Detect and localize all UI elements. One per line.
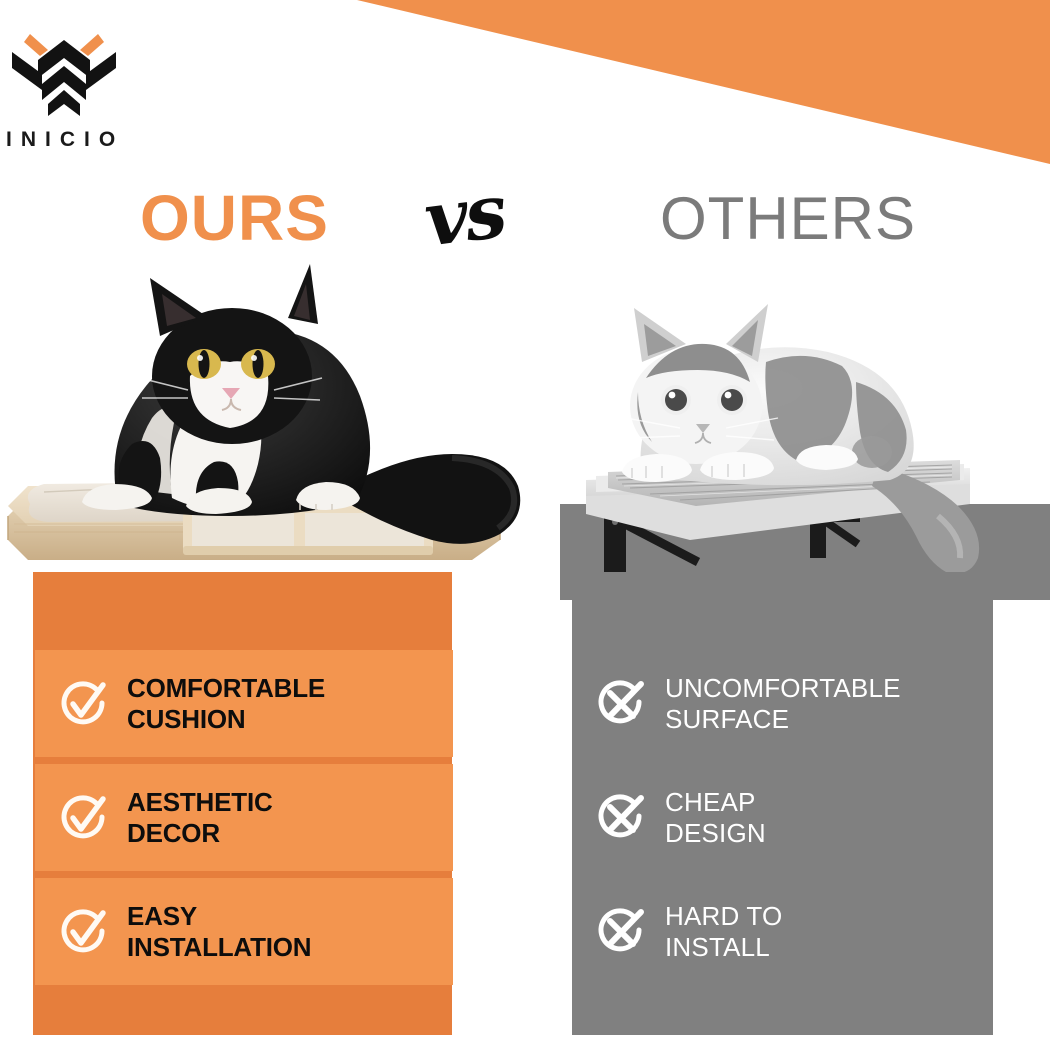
x-circle-icon xyxy=(595,906,647,958)
check-circle-icon xyxy=(57,906,109,958)
check-circle-icon xyxy=(57,678,109,730)
bee-chevron-logo-icon xyxy=(4,16,124,124)
headline-ours: OURS xyxy=(140,175,329,261)
feature-bar-others-2[interactable]: HARD TO INSTALL xyxy=(573,878,993,985)
comparison-infographic: INICIO OURS vs OTHERS xyxy=(0,0,1050,1040)
feature-bar-others-1[interactable]: CHEAP DESIGN xyxy=(573,764,993,871)
brand-name: INICIO xyxy=(6,128,144,152)
hero-image-others xyxy=(560,300,1050,600)
x-circle-icon xyxy=(595,678,647,730)
feature-label: HARD TO INSTALL xyxy=(665,901,782,962)
feature-bar-ours-1[interactable]: AESTHETIC DECOR xyxy=(35,764,453,871)
feature-label: AESTHETIC DECOR xyxy=(127,787,273,848)
brand-logo: INICIO xyxy=(4,16,144,152)
hero-image-ours xyxy=(0,258,530,588)
feature-bar-ours-0[interactable]: COMFORTABLE CUSHION xyxy=(35,650,453,757)
feature-label: CHEAP DESIGN xyxy=(665,787,766,848)
x-circle-icon xyxy=(595,792,647,844)
headline-others: OTHERS xyxy=(660,179,916,259)
feature-label: COMFORTABLE CUSHION xyxy=(127,673,325,734)
feature-bar-ours-2[interactable]: EASY INSTALLATION xyxy=(35,878,453,985)
feature-list-others: UNCOMFORTABLE SURFACE CHEAP DESIGN HARD … xyxy=(573,650,993,992)
headline-row: OURS vs OTHERS xyxy=(0,175,1050,270)
feature-label: UNCOMFORTABLE SURFACE xyxy=(665,673,901,734)
headline-vs: vs xyxy=(419,162,509,271)
feature-bar-others-0[interactable]: UNCOMFORTABLE SURFACE xyxy=(573,650,993,757)
check-circle-icon xyxy=(57,792,109,844)
feature-list-ours: COMFORTABLE CUSHION AESTHETIC DECOR EASY… xyxy=(35,650,453,992)
feature-label: EASY INSTALLATION xyxy=(127,901,311,962)
